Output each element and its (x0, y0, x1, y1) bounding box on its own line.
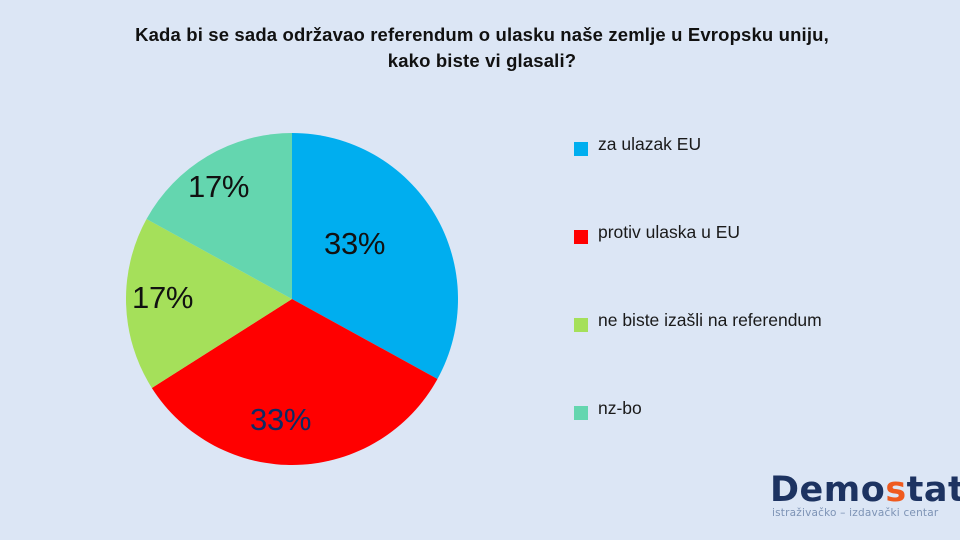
pie-slice-label-protiv-ulaska: 33% (250, 402, 311, 438)
legend-item-label: nz-bo (598, 396, 642, 421)
legend-swatch-icon (574, 406, 588, 420)
pie-slice-label-za-ulazak-eu: 33% (324, 226, 385, 262)
legend-item-label: ne biste izašli na referendum (598, 308, 822, 333)
legend-item-label: za ulazak EU (598, 132, 701, 157)
pie-slice-label-nz-bo: 17% (188, 169, 249, 205)
logo-wordmark: Demostat (770, 470, 960, 510)
chart-legend: za ulazak EU protiv ulaska u EU ne biste… (574, 132, 946, 484)
logo-tagline: istraživačko – izdavački centar (772, 507, 938, 519)
legend-item-label: protiv ulaska u EU (598, 220, 740, 245)
logo-name-part1: Demo (770, 470, 885, 510)
legend-item-ne-biste-izasli-na-referendum[interactable]: ne biste izašli na referendum (574, 308, 946, 396)
pie-chart: 33% 33% 17% 17% (126, 133, 458, 465)
legend-swatch-icon (574, 142, 588, 156)
logo-name-accent: s (885, 470, 906, 510)
logo-name-part2: tat (907, 470, 960, 510)
legend-item-protiv-ulaska-u-eu[interactable]: protiv ulaska u EU (574, 220, 946, 308)
legend-swatch-icon (574, 230, 588, 244)
slide-root: Kada bi se sada održavao referendum o ul… (0, 0, 960, 540)
legend-item-za-ulazak-eu[interactable]: za ulazak EU (574, 132, 946, 220)
demostat-logo: Demostat istraživačko – izdavački centar (770, 470, 950, 528)
legend-swatch-icon (574, 318, 588, 332)
page-title: Kada bi se sada održavao referendum o ul… (118, 22, 846, 75)
pie-slice-label-ne-biste-izasli: 17% (132, 280, 193, 316)
